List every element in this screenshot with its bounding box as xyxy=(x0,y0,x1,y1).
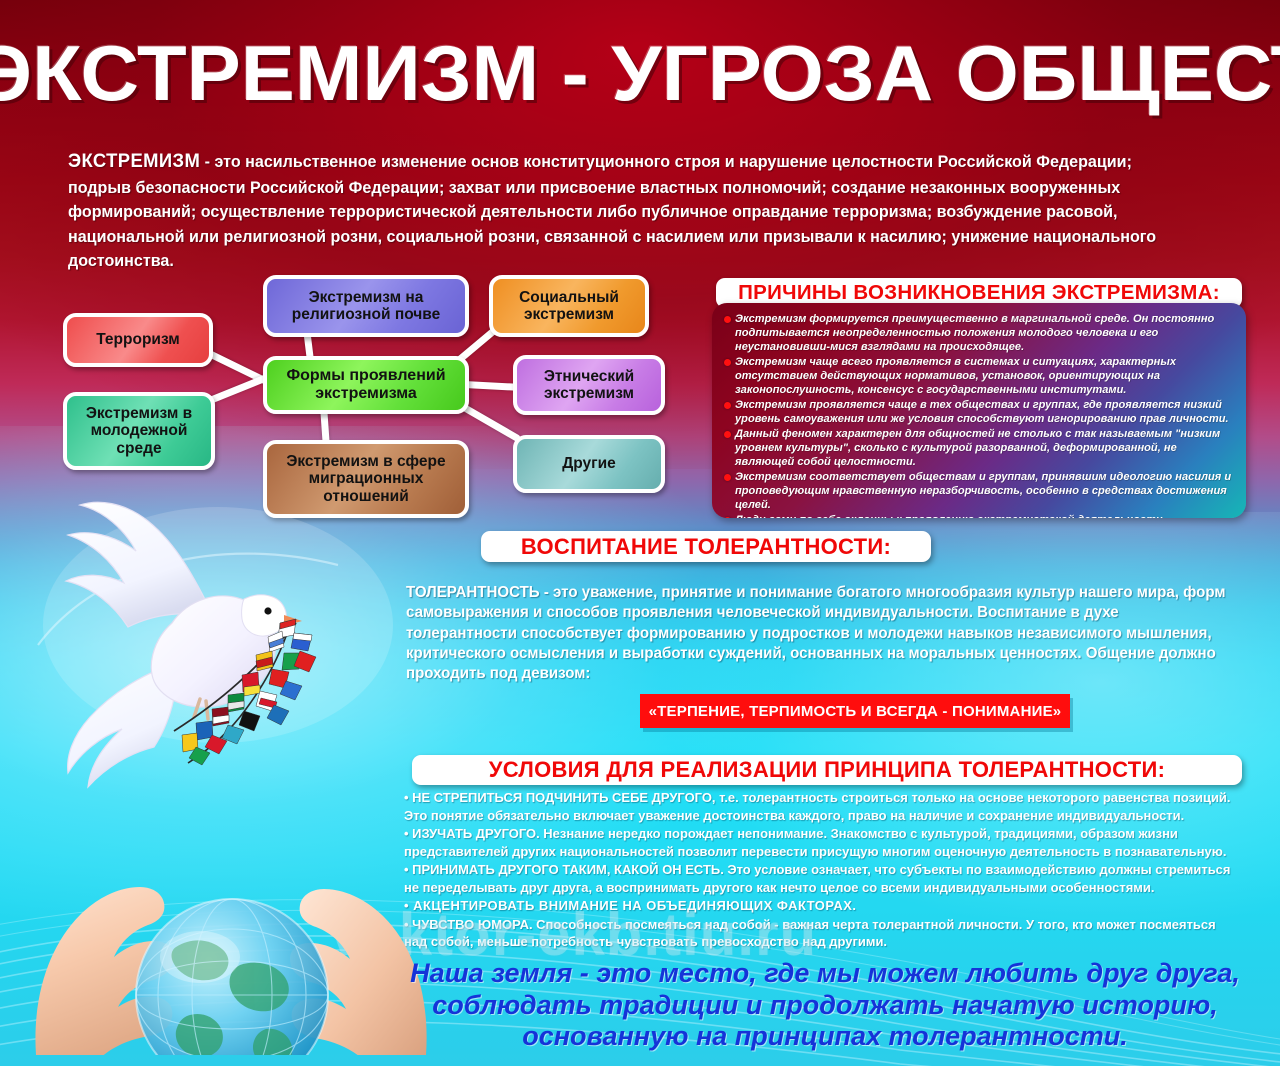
closing-line-3: основанную на принципах толерантности. xyxy=(380,1021,1270,1053)
diagram-node-label: Экстремизм в молодежной среде xyxy=(73,405,205,458)
intro-text: - это насильственное изменение основ кон… xyxy=(68,152,1156,270)
forms-of-extremism-diagram: Терроризм Экстремизм на религиозной почв… xyxy=(55,275,700,520)
diagram-node-migracionnyh[interactable]: Экстремизм в сфере миграционных отношени… xyxy=(263,440,469,518)
diagram-node-religioznaya[interactable]: Экстремизм на религиозной почве xyxy=(263,275,469,337)
diagram-node-center[interactable]: Формы проявлений экстремизма xyxy=(263,356,469,414)
conditions-list-item: • ЧУВСТВО ЮМОРА. Способность посмеяться … xyxy=(404,916,1242,952)
conditions-list-item: • ИЗУЧАТЬ ДРУГОГО. Незнание нередко поро… xyxy=(404,825,1242,861)
diagram-node-label: Терроризм xyxy=(96,331,180,349)
conditions-heading: УСЛОВИЯ ДЛЯ РЕАЛИЗАЦИИ ПРИНЦИПА ТОЛЕРАНТ… xyxy=(489,757,1166,783)
causes-list: Экстремизм формируется преимущественно в… xyxy=(722,312,1236,518)
causes-list-item: Люди сами по себе склонны к проявлению э… xyxy=(722,513,1236,518)
closing-statement: Наша земля - это место, где мы можем люб… xyxy=(380,958,1270,1053)
causes-heading: ПРИЧИНЫ ВОЗНИКНОВЕНИЯ ЭКСТРЕМИЗМА: xyxy=(738,281,1220,305)
tolerance-heading: ВОСПИТАНИЕ ТОЛЕРАНТНОСТИ: xyxy=(521,534,891,560)
causes-list-item: Экстремизм чаще всего проявляется в сист… xyxy=(722,355,1236,397)
diagram-node-drugie[interactable]: Другие xyxy=(513,435,665,493)
diagram-node-label: Экстремизм в сфере миграционных отношени… xyxy=(273,453,459,506)
causes-list-item: Экстремизм соответствует обществам и гру… xyxy=(722,470,1236,512)
conditions-list-item: • НЕ СТРЕПИТЬСЯ ПОДЧИНИТЬ СЕБЕ ДРУГОГО, … xyxy=(404,789,1242,825)
tolerance-body: ТОЛЕРАНТНОСТЬ - это уважение, принятие и… xyxy=(406,583,1233,685)
causes-list-item: Экстремизм проявляется чаще в тех общест… xyxy=(722,398,1236,426)
intro-paragraph: ЭКСТРЕМИЗМ - это насильственное изменени… xyxy=(68,148,1193,273)
closing-line-2: соблюдать традиции и продолжать начатую … xyxy=(380,990,1270,1022)
diagram-node-label: Экстремизм на религиозной почве xyxy=(273,289,459,324)
diagram-node-etnicheskiy[interactable]: Этнический экстремизм xyxy=(513,355,665,415)
diagram-node-label: Другие xyxy=(562,455,616,473)
closing-line-1: Наша земля - это место, где мы можем люб… xyxy=(380,958,1270,990)
poster-canvas: ЭКСТРЕМИЗМ - УГРОЗА ОБЩЕСТВУ! ЭКСТРЕМИЗМ… xyxy=(0,0,1280,1066)
diagram-node-terrorizm[interactable]: Терроризм xyxy=(63,313,213,367)
tolerance-lead-word: ТОЛЕРАНТНОСТЬ xyxy=(406,584,540,601)
conditions-list-item: • ПРИНИМАТЬ ДРУГОГО ТАКИМ, КАКОЙ ОН ЕСТЬ… xyxy=(404,861,1242,897)
causes-panel: Экстремизм формируется преимущественно в… xyxy=(712,303,1246,518)
diagram-node-molodezhnoy[interactable]: Экстремизм в молодежной среде xyxy=(63,392,215,470)
tolerance-motto-banner: «ТЕРПЕНИЕ, ТЕРПИМОСТЬ И ВСЕГДА - ПОНИМАН… xyxy=(640,694,1070,728)
conditions-body: • НЕ СТРЕПИТЬСЯ ПОДЧИНИТЬ СЕБЕ ДРУГОГО, … xyxy=(404,789,1242,952)
diagram-node-label: Формы проявлений экстремизма xyxy=(273,367,459,403)
conditions-heading-plaque: УСЛОВИЯ ДЛЯ РЕАЛИЗАЦИИ ПРИНЦИПА ТОЛЕРАНТ… xyxy=(412,755,1242,785)
diagram-node-socialnyy[interactable]: Социальный экстремизм xyxy=(489,275,649,337)
page-title: ЭКСТРЕМИЗМ - УГРОЗА ОБЩЕСТВУ! xyxy=(0,36,1280,110)
diagram-node-label: Социальный экстремизм xyxy=(499,289,639,324)
conditions-list-item: • АКЦЕНТИРОВАТЬ ВНИМАНИЕ НА ОБЪЕДИНЯЮЩИХ… xyxy=(404,897,1242,915)
causes-list-item: Экстремизм формируется преимущественно в… xyxy=(722,312,1236,354)
intro-lead-word: ЭКСТРЕМИЗМ xyxy=(68,151,200,172)
causes-list-item: Данный феномен характерен для общностей … xyxy=(722,427,1236,469)
diagram-node-label: Этнический экстремизм xyxy=(523,368,655,403)
tolerance-heading-plaque: ВОСПИТАНИЕ ТОЛЕРАНТНОСТИ: xyxy=(481,531,931,562)
tolerance-motto-text: «ТЕРПЕНИЕ, ТЕРПИМОСТЬ И ВСЕГДА - ПОНИМАН… xyxy=(649,703,1062,720)
